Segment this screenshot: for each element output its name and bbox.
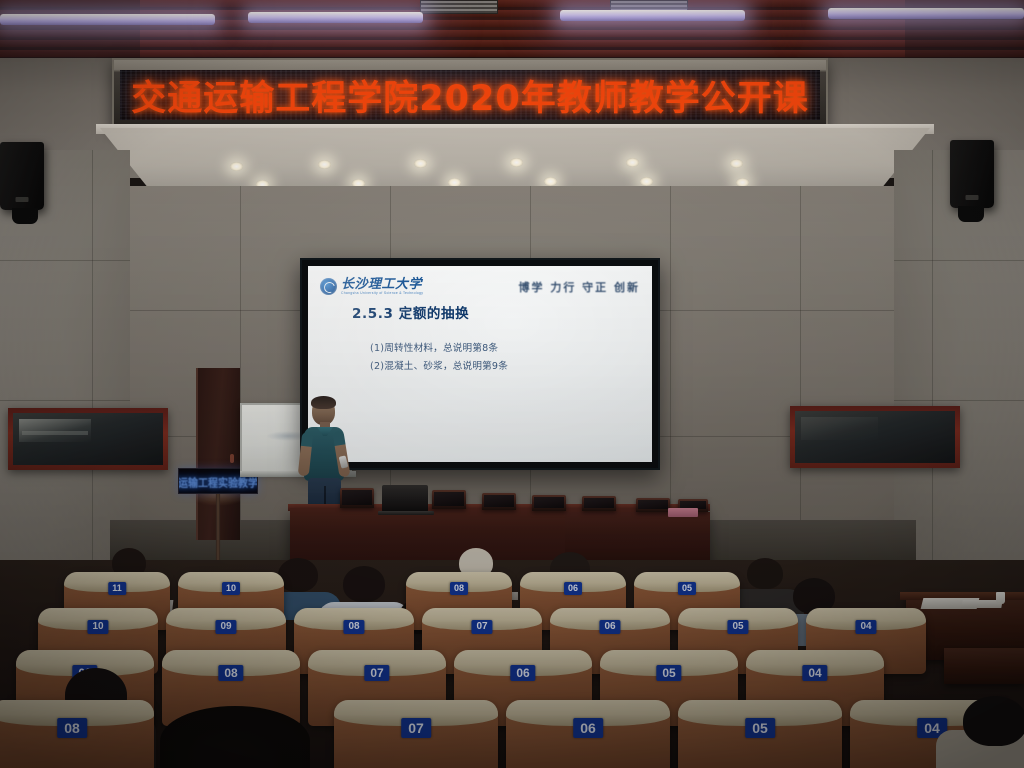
window-glass bbox=[13, 413, 163, 465]
attendee-head bbox=[160, 706, 310, 768]
wall-speaker-left bbox=[0, 142, 44, 210]
downlight bbox=[626, 158, 639, 167]
seat-number-plate: 04 bbox=[802, 665, 827, 681]
laptop-base bbox=[378, 511, 434, 515]
seat-number-plate: 08 bbox=[450, 582, 468, 595]
paper-cup bbox=[996, 592, 1005, 604]
seat[interactable]: 07 bbox=[334, 700, 498, 768]
door-knob[interactable] bbox=[230, 454, 234, 463]
monitor[interactable] bbox=[582, 496, 616, 511]
attendee-front-right bbox=[930, 696, 1024, 768]
speaker-mount-left bbox=[12, 208, 38, 224]
seat-number-plate: 08 bbox=[343, 620, 364, 634]
seat[interactable]: 06 bbox=[506, 700, 670, 768]
ceiling-light-tube bbox=[248, 12, 423, 23]
attendee-front-center bbox=[150, 706, 320, 768]
seat-number-plate: 10 bbox=[87, 620, 108, 634]
monitor[interactable] bbox=[340, 488, 374, 508]
seat-number-plate: 06 bbox=[564, 582, 582, 595]
monitor[interactable] bbox=[532, 495, 566, 511]
downlight bbox=[414, 159, 427, 168]
ceiling-vent-left bbox=[420, 0, 498, 14]
projection-screen: 长沙理工大学 Changsha University of Science & … bbox=[300, 258, 660, 470]
monitor[interactable] bbox=[482, 493, 516, 510]
downlight bbox=[640, 177, 653, 186]
attendee-head bbox=[343, 566, 385, 602]
downlight bbox=[730, 159, 743, 168]
ceiling-light-tube bbox=[0, 14, 215, 25]
university-name-en: Changsha University of Science & Technol… bbox=[341, 291, 423, 296]
seat[interactable]: 08 bbox=[0, 700, 154, 768]
led-banner-text: 交通运输工程学院2020年教师教学公开课 bbox=[131, 70, 808, 120]
window-glass bbox=[795, 411, 955, 463]
university-name-cn: 长沙理工大学 bbox=[341, 278, 423, 291]
wall-window-right bbox=[790, 406, 960, 468]
lecture-hall-photo: 交通运输工程学院2020年教师教学公开课 bbox=[0, 0, 1024, 768]
downlight bbox=[318, 160, 331, 169]
led-banner: 交通运输工程学院2020年教师教学公开课 bbox=[112, 58, 828, 130]
presenter-hair bbox=[311, 396, 336, 409]
seat-number-plate: 07 bbox=[401, 718, 431, 738]
seat-number-plate: 07 bbox=[364, 665, 389, 681]
downlight bbox=[230, 162, 243, 171]
led-banner-screen: 交通运输工程学院2020年教师教学公开课 bbox=[120, 70, 820, 120]
seat-number-plate: 10 bbox=[222, 582, 240, 595]
speaker-logo bbox=[16, 197, 29, 202]
ceiling-light-tube bbox=[828, 8, 1024, 19]
slide-bullets: (1)周转性材料，总说明第8条 (2)混凝土、砂浆，总说明第9条 bbox=[370, 340, 634, 375]
seat-number-plate: 08 bbox=[57, 718, 87, 738]
wall-window-left bbox=[8, 408, 168, 470]
seat-number-plate: 06 bbox=[573, 718, 603, 738]
desk-item-pink bbox=[668, 508, 698, 517]
downlight bbox=[510, 158, 523, 167]
slide-bullet: (1)周转性材料，总说明第8条 bbox=[370, 340, 634, 358]
slide-title: 2.5.3 定额的抽换 bbox=[352, 302, 469, 322]
window-reflection bbox=[801, 417, 878, 440]
window-reflection bbox=[22, 431, 88, 435]
ceiling-light-tube bbox=[560, 10, 745, 21]
seat-number-plate: 06 bbox=[510, 665, 535, 681]
seat-number-plate: 04 bbox=[855, 620, 876, 634]
seat-number-plate: 09 bbox=[215, 620, 236, 634]
seat-number-plate: 05 bbox=[656, 665, 681, 681]
slide-surface: 长沙理工大学 Changsha University of Science & … bbox=[308, 266, 652, 462]
seat-number-plate: 05 bbox=[745, 718, 775, 738]
university-logo: 长沙理工大学 Changsha University of Science & … bbox=[320, 278, 423, 296]
seat-number-plate: 06 bbox=[599, 620, 620, 634]
attendee-head bbox=[278, 558, 318, 592]
wall-speaker-right bbox=[950, 140, 994, 208]
university-emblem-icon bbox=[320, 278, 337, 295]
attendee-head bbox=[963, 696, 1024, 746]
speaker-mount-right bbox=[958, 206, 984, 222]
slide-bullet: (2)混凝土、砂浆，总说明第9条 bbox=[370, 358, 634, 376]
slide-header: 长沙理工大学 Changsha University of Science & … bbox=[320, 274, 640, 300]
seat-number-plate: 05 bbox=[727, 620, 748, 634]
seat-number-plate: 07 bbox=[471, 620, 492, 634]
side-desk-right-lower bbox=[944, 648, 1024, 684]
monitor[interactable] bbox=[432, 490, 466, 509]
seat-number-plate: 05 bbox=[678, 582, 696, 595]
seat-number-plate: 08 bbox=[218, 665, 243, 681]
speaker-logo bbox=[966, 195, 979, 200]
university-motto: 博学 力行 守正 创新 bbox=[519, 279, 641, 295]
laptop[interactable] bbox=[382, 485, 428, 512]
downlight bbox=[544, 177, 557, 186]
seat[interactable]: 05 bbox=[678, 700, 842, 768]
seat-number-plate: 11 bbox=[108, 582, 126, 595]
monitor[interactable] bbox=[636, 498, 670, 512]
